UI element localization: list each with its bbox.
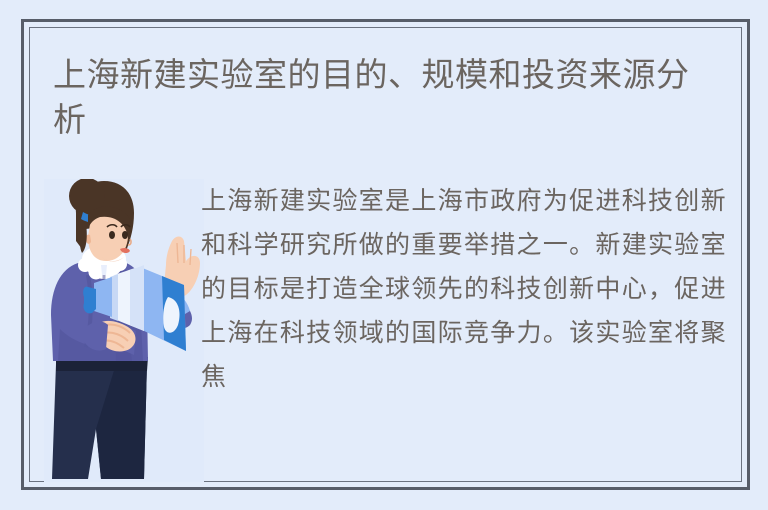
article-content: 上海新建实验室的目的、规模和投资来源分析 xyxy=(29,27,742,482)
page-title: 上海新建实验室的目的、规模和投资来源分析 xyxy=(53,52,713,142)
article-body: 上海新建实验室是上海市政府为促进科技创新和科学研究所做的重要举措之一。新建实验室… xyxy=(201,179,726,399)
woman-with-megaphone-illustration xyxy=(44,179,204,482)
page-root: 上海新建实验室的目的、规模和投资来源分析 xyxy=(0,0,768,510)
